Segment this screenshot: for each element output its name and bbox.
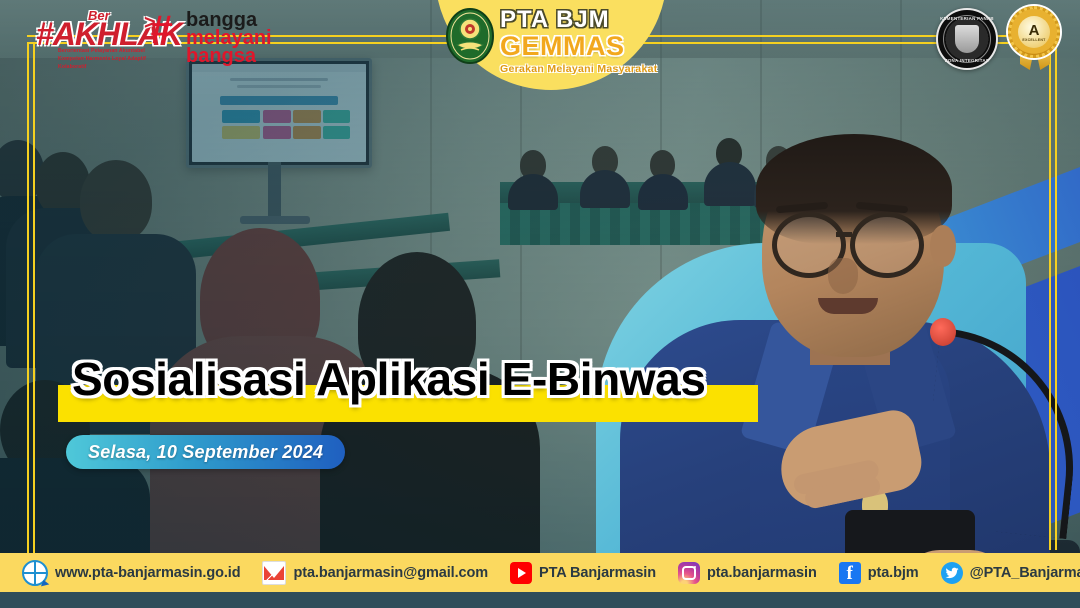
contact-footer: www.pta-banjarmasin.go.id pta.banjarmasi… [0,553,1080,592]
award-grade-letter: A [1029,23,1040,38]
award-grade-label: EXCELLENT [1022,38,1045,42]
gemmas-text: PTA BJM GEMMAS Gerakan Melayani Masyarak… [500,4,658,75]
badge-bottom-text: ZONA INTEGRITAS [938,58,996,63]
gemmas-tagline: Gerakan Melayani Masyarakat [500,63,658,75]
decor-vline-left-a [27,44,29,554]
footer-item-email[interactable]: pta.banjarmasin@gmail.com [262,561,488,585]
zona-integritas-badge: KEMENTERIAN PANRB ZONA INTEGRITAS [936,8,998,70]
decor-vline-right-b [1055,30,1057,550]
excellent-award-badge: A EXCELLENT [1004,6,1064,68]
footer-item-website[interactable]: www.pta-banjarmasin.go.id [22,560,240,586]
microphone-head [930,318,956,346]
email-label: pta.banjarmasin@gmail.com [293,565,488,581]
footer-item-facebook[interactable]: f pta.bjm [839,562,919,584]
berakhlak-logo: Ber #AKHLAK > Berorientasi Pelayanan Aku… [36,6,166,62]
youtube-label: PTA Banjarmasin [539,565,656,581]
event-date-text: Selasa, 10 September 2024 [88,442,323,463]
footer-item-twitter[interactable]: @PTA_Banjarmasin [941,562,1080,584]
website-label: www.pta-banjarmasin.go.id [55,565,240,581]
event-date-pill: Selasa, 10 September 2024 [66,435,345,469]
facebook-icon: f [839,562,861,584]
footer-item-instagram[interactable]: pta.banjarmasin [678,562,817,584]
instagram-label: pta.banjarmasin [707,565,817,581]
shield-icon [955,25,979,53]
globe-icon [22,560,48,586]
gemmas-branding: PTA BJM GEMMAS Gerakan Melayani Masyarak… [435,4,667,88]
decor-vline-left-b [33,44,35,554]
speaker-ear [930,225,956,267]
bangga-line-3: bangsa [186,46,256,66]
rosette-shape: A EXCELLENT [1008,6,1060,58]
speaker-mouth [818,298,878,314]
facebook-label: pta.bjm [868,565,919,581]
eyeglasses-bridge [836,232,852,237]
footer-bottom-strip [0,592,1080,608]
poster-canvas: Ber #AKHLAK > Berorientasi Pelayanan Aku… [0,0,1080,608]
page-title: Sosialisasi Aplikasi E-Binwas [72,352,972,406]
twitter-label: @PTA_Banjarmasin [970,565,1080,581]
badge-top-text: KEMENTERIAN PANRB [938,16,996,21]
eyeglasses-right-lens [850,212,924,278]
rosette-center: A EXCELLENT [1018,16,1050,48]
twitter-icon [941,562,963,584]
gmail-icon [262,561,286,585]
youtube-icon [510,562,532,584]
hash-icon: # [150,10,172,50]
bangga-melayani-bangsa-logo: # bangga melayani bangsa [150,8,260,66]
pta-bjm-seal-icon [445,8,495,64]
footer-item-youtube[interactable]: PTA Banjarmasin [510,562,656,584]
decor-vline-right-a [1049,30,1051,550]
gemmas-title: PTA BJM [500,8,658,32]
speaker-nose [828,258,858,294]
instagram-icon [678,562,700,584]
gemmas-subtitle: GEMMAS [500,33,658,60]
